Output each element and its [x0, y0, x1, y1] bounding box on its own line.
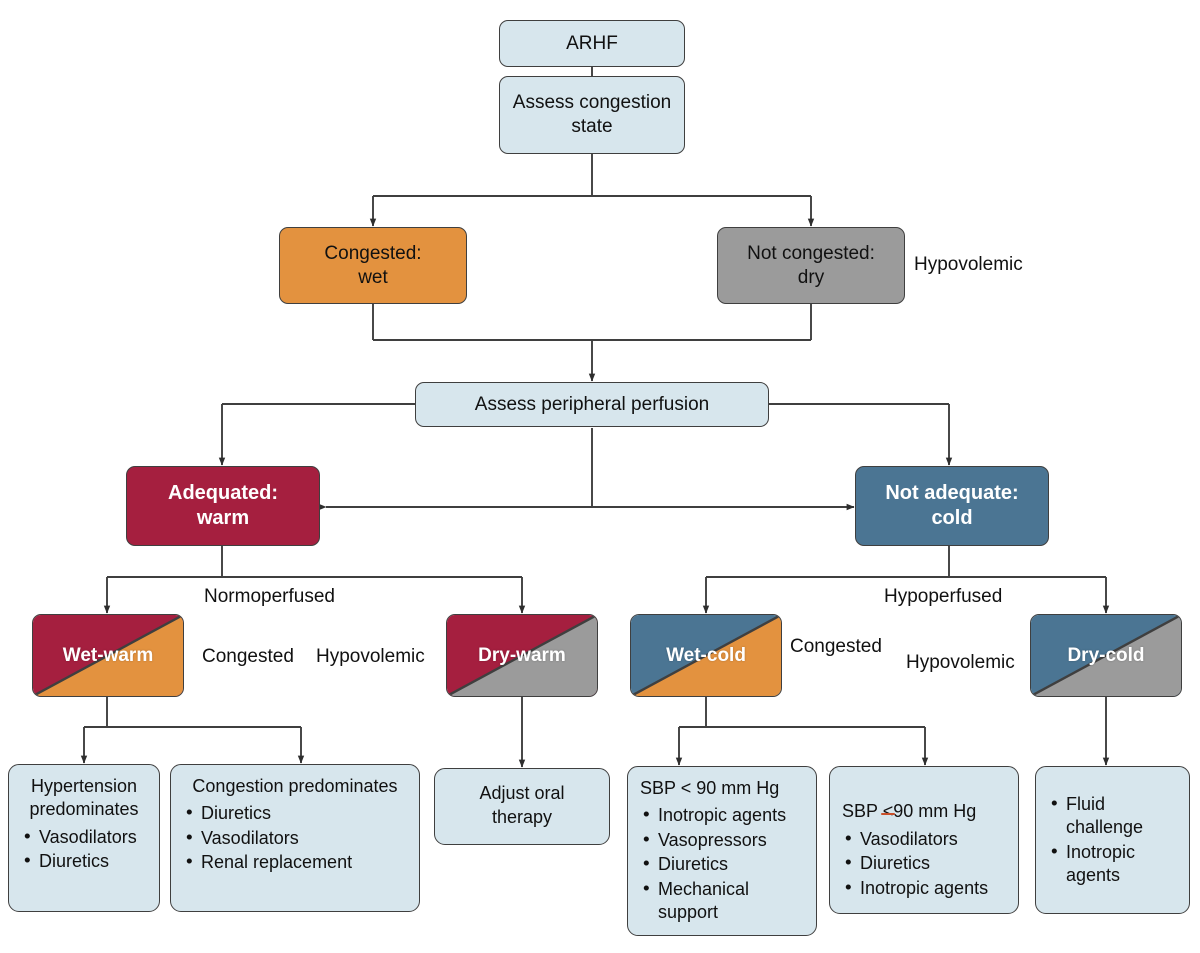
node-congested-wet-label: Congested: wet: [316, 242, 429, 289]
list-item: Vasodilators: [23, 826, 147, 849]
node-dry-cold[interactable]: Dry-cold: [1030, 614, 1182, 697]
node-not-adequate-cold-label: Not adequate: cold: [877, 481, 1026, 531]
list-item: Diuretics: [185, 802, 407, 825]
node-wet-warm[interactable]: Wet-warm: [32, 614, 184, 697]
flowchart-canvas: ARHF Assess congestion state Congested: …: [0, 0, 1200, 953]
node-assess-peripheral-perfusion-label: Assess peripheral perfusion: [467, 393, 717, 417]
list-item: Inotropic agents: [1050, 841, 1143, 888]
treatment-box-hypertension[interactable]: Hypertension predominates Vasodilators D…: [8, 764, 160, 912]
node-not-congested-dry-label: Not congested: dry: [739, 242, 883, 289]
node-arhf-label: ARHF: [558, 32, 626, 56]
annotation-congested-warm: Congested: [202, 645, 294, 668]
sbp-suffix: 90 mm Hg: [893, 801, 976, 821]
annotation-hypovolemic-cold: Hypovolemic: [906, 651, 1015, 674]
treatment-sbp-not-low-list: Vasodilators Diuretics Inotropic agents: [842, 828, 1006, 900]
node-congested-wet[interactable]: Congested: wet: [279, 227, 467, 304]
list-item: Vasodilators: [844, 828, 1006, 851]
treatment-hypertension-list: Vasodilators Diuretics: [21, 826, 147, 874]
less-than-struck-icon: <: [883, 800, 894, 823]
node-wet-cold[interactable]: Wet-cold: [630, 614, 782, 697]
list-item: Vasodilators: [185, 827, 407, 850]
treatment-box-sbp-low[interactable]: SBP < 90 mm Hg Inotropic agents Vasopres…: [627, 766, 817, 936]
treatment-box-dry-cold[interactable]: Fluid challenge Inotropic agents: [1035, 766, 1190, 914]
list-item: Fluid challenge: [1050, 793, 1143, 840]
node-dry-cold-label: Dry-cold: [1067, 645, 1144, 667]
list-item: Mechanical support: [642, 878, 804, 925]
treatment-sbp-not-low-heading: SBP <90 mm Hg: [842, 777, 1006, 824]
sbp-prefix: SBP: [842, 801, 883, 821]
node-not-adequate-cold[interactable]: Not adequate: cold: [855, 466, 1049, 546]
node-adequate-warm[interactable]: Adequated: warm: [126, 466, 320, 546]
annotation-congested-cold: Congested: [790, 635, 882, 658]
annotation-hypovolemic-top: Hypovolemic: [914, 253, 1023, 276]
treatment-box-congestion[interactable]: Congestion predominates Diuretics Vasodi…: [170, 764, 420, 912]
list-item: Diuretics: [642, 853, 804, 876]
treatment-adjust-oral-heading: Adjust oral therapy: [479, 782, 564, 829]
treatment-congestion-heading: Congestion predominates: [183, 775, 407, 798]
annotation-hypovolemic-warm: Hypovolemic: [316, 645, 425, 668]
treatment-congestion-list: Diuretics Vasodilators Renal replacement: [183, 802, 407, 874]
treatment-box-sbp-not-low[interactable]: SBP <90 mm Hg Vasodilators Diuretics Ino…: [829, 766, 1019, 914]
treatment-sbp-low-list: Inotropic agents Vasopressors Diuretics …: [640, 804, 804, 924]
node-wet-cold-label: Wet-cold: [666, 645, 746, 667]
list-item: Renal replacement: [185, 851, 407, 874]
node-adequate-warm-label: Adequated: warm: [160, 481, 286, 531]
treatment-sbp-low-heading: SBP < 90 mm Hg: [640, 777, 804, 800]
node-dry-warm[interactable]: Dry-warm: [446, 614, 598, 697]
node-assess-congestion-state[interactable]: Assess congestion state: [499, 76, 685, 154]
list-item: Inotropic agents: [642, 804, 804, 827]
node-wet-warm-label: Wet-warm: [63, 645, 153, 667]
annotation-hypoperfused: Hypoperfused: [884, 585, 1002, 608]
treatment-box-adjust-oral-therapy[interactable]: Adjust oral therapy: [434, 768, 610, 845]
list-item: Inotropic agents: [844, 877, 1006, 900]
node-not-congested-dry[interactable]: Not congested: dry: [717, 227, 905, 304]
treatment-dry-cold-list: Fluid challenge Inotropic agents: [1048, 792, 1143, 889]
node-arhf[interactable]: ARHF: [499, 20, 685, 67]
list-item: Diuretics: [844, 852, 1006, 875]
treatment-hypertension-heading: Hypertension predominates: [21, 775, 147, 822]
list-item: Diuretics: [23, 850, 147, 873]
node-assess-congestion-state-label: Assess congestion state: [505, 91, 679, 138]
list-item: Vasopressors: [642, 829, 804, 852]
annotation-normoperfused: Normoperfused: [204, 585, 335, 608]
node-dry-warm-label: Dry-warm: [478, 645, 566, 667]
node-assess-peripheral-perfusion[interactable]: Assess peripheral perfusion: [415, 382, 769, 427]
